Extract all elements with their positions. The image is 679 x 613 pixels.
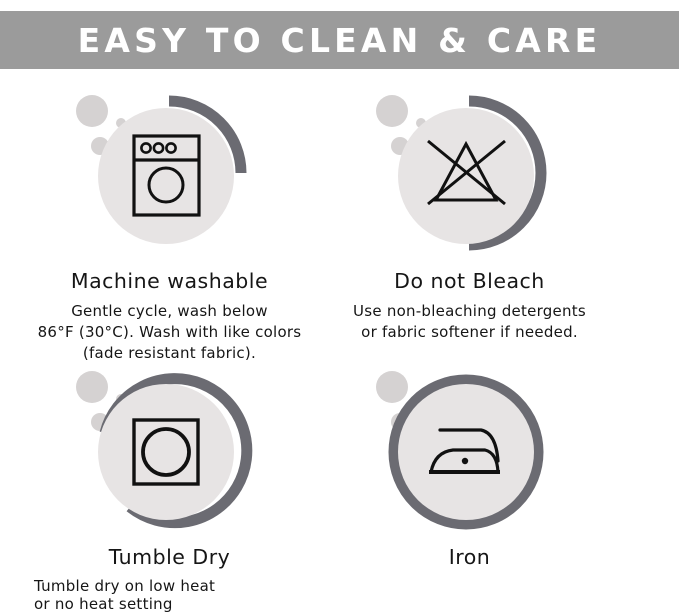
body-line: or fabric softener if needed. [308, 322, 631, 343]
card-body: Use non-bleaching detergents or fabric s… [308, 301, 631, 344]
care-instructions-page: EASY TO CLEAN & CARE [0, 0, 679, 594]
do-not-bleach-text: Do not Bleach Use non-bleaching detergen… [300, 269, 639, 343]
do-not-bleach-badge [365, 83, 575, 263]
card-title: Do not Bleach [308, 269, 631, 295]
tumble-dry-badge [65, 359, 275, 539]
body-line: Use non-bleaching detergents [308, 301, 631, 322]
page-title: EASY TO CLEAN & CARE [78, 24, 602, 57]
care-card-machine-washable: Machine washable Gentle cycle, wash belo… [0, 83, 339, 365]
tumble-dry-text: Tumble Dry Tumble dry on low heat or no … [0, 545, 339, 613]
body-line: Tumble dry on low heat [34, 577, 331, 595]
washing-machine-icon [65, 83, 275, 263]
care-card-tumble-dry: Tumble Dry Tumble dry on low heat or no … [0, 359, 339, 613]
card-body: Tumble dry on low heat or no heat settin… [8, 577, 331, 613]
iron-badge [365, 359, 575, 539]
tumble-dry-icon [65, 359, 275, 539]
iron-icon [365, 359, 575, 539]
card-title: Iron [308, 545, 631, 571]
iron-text: Iron [300, 545, 639, 571]
do-not-bleach-icon [365, 83, 575, 263]
body-line: 86°F (30°C). Wash with like colors [8, 322, 331, 343]
card-body: Gentle cycle, wash below 86°F (30°C). Wa… [8, 301, 331, 365]
care-card-iron: Iron [300, 359, 639, 577]
care-cards-grid: Machine washable Gentle cycle, wash belo… [0, 69, 679, 594]
machine-washable-text: Machine washable Gentle cycle, wash belo… [0, 269, 339, 365]
body-line: or no heat setting [34, 595, 331, 613]
body-line: Gentle cycle, wash below [8, 301, 331, 322]
care-card-do-not-bleach: Do not Bleach Use non-bleaching detergen… [300, 83, 639, 343]
machine-washable-badge [65, 83, 275, 263]
header-banner: EASY TO CLEAN & CARE [0, 11, 679, 69]
card-title: Machine washable [8, 269, 331, 295]
card-title: Tumble Dry [8, 545, 331, 571]
